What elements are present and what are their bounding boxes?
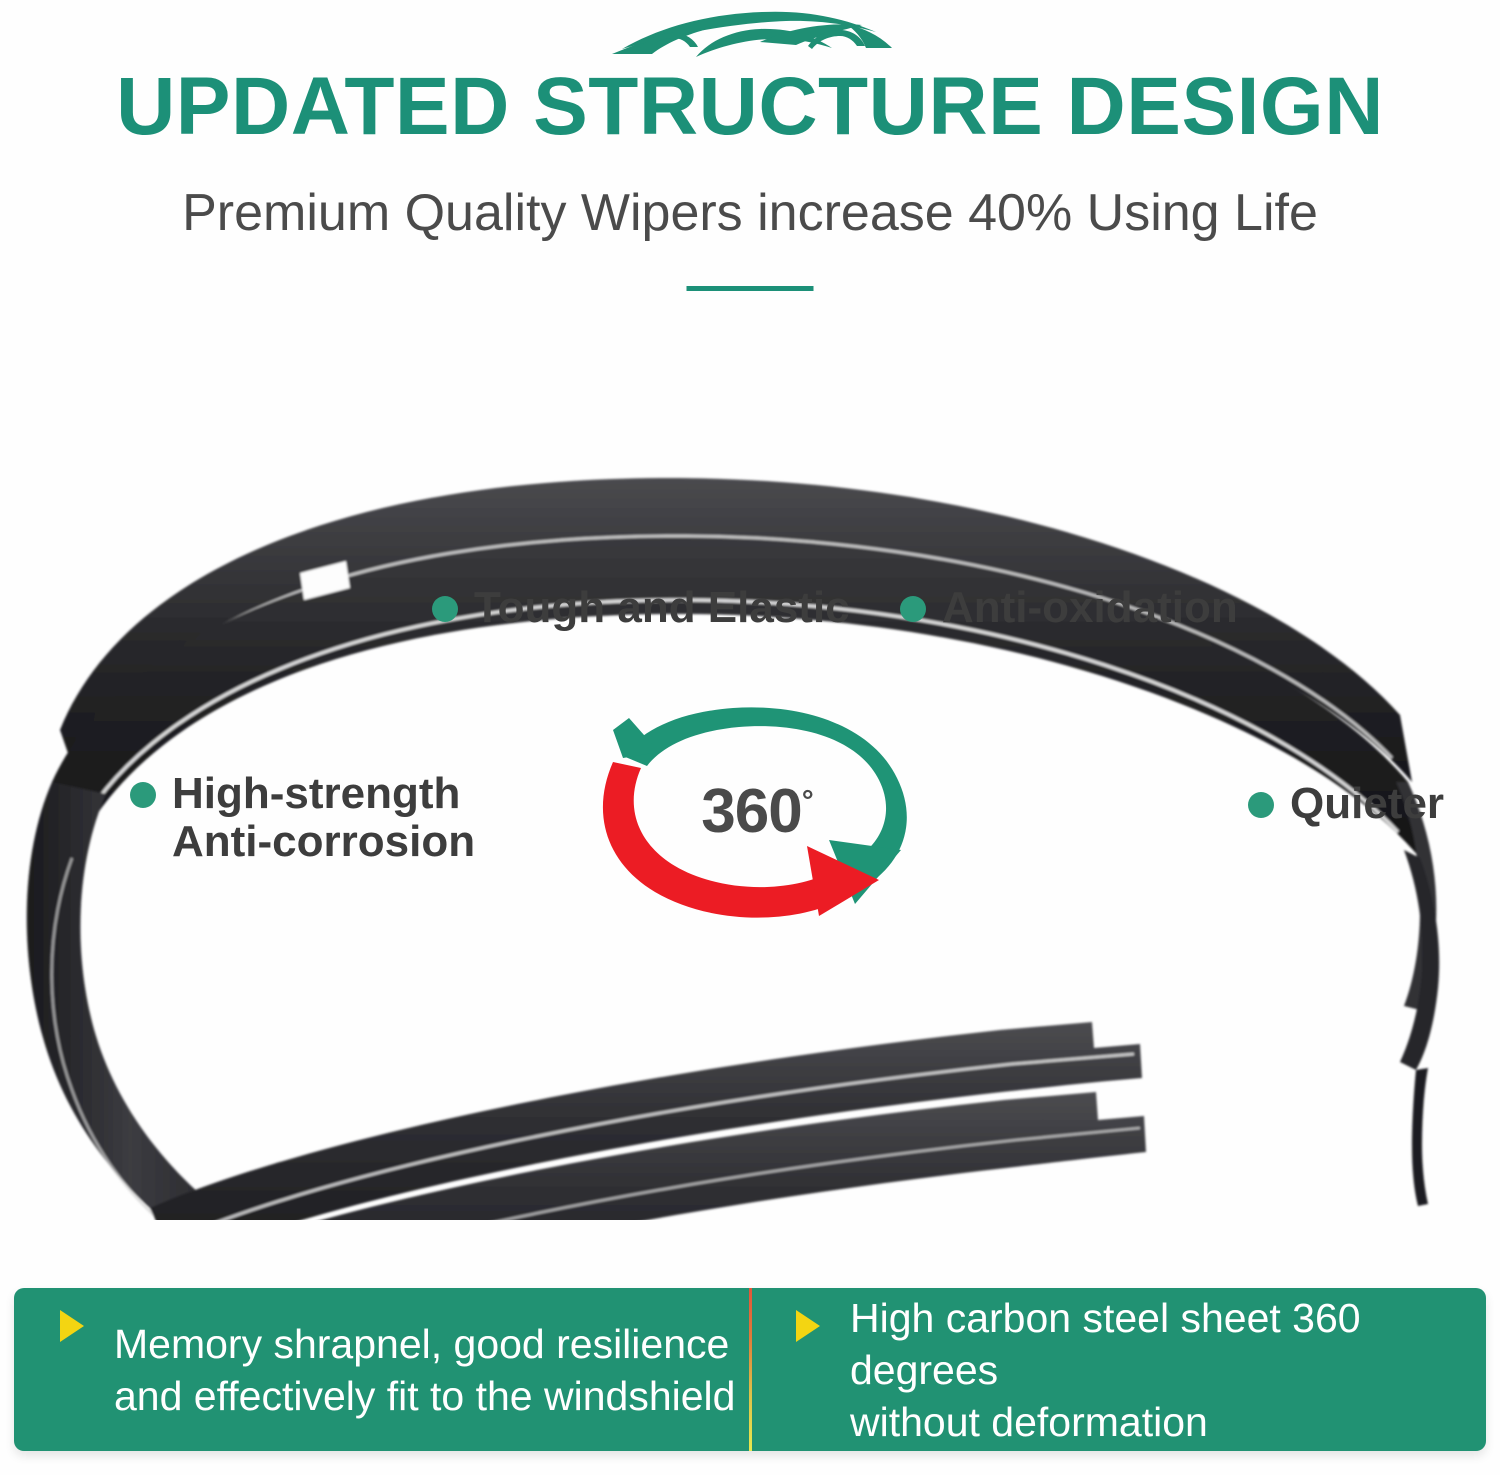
bullet-dot-icon [130,782,156,808]
feature-label: Quieter [1290,780,1444,828]
title-divider [687,286,814,291]
feature-label: High-strength Anti-corrosion [172,770,475,866]
car-silhouette-icon [600,2,900,64]
bullet-dot-icon [1248,792,1274,818]
banner-item-right: High carbon steel sheet 360 degrees with… [750,1288,1486,1451]
banner-text: Memory shrapnel, good resilience and eff… [114,1318,735,1422]
feature-label: Tough and Elastic [474,584,850,632]
bottom-feature-banner: Memory shrapnel, good resilience and eff… [14,1288,1486,1451]
banner-item-left: Memory shrapnel, good resilience and eff… [14,1288,750,1451]
bullet-dot-icon [900,596,926,622]
product-feature-page: UPDATED STRUCTURE DESIGN Premium Quality… [0,0,1500,1475]
rotation-360-badge: 360° [583,700,943,930]
feature-label: Anti-oxidation [942,584,1238,632]
brand-logo [0,2,1500,66]
triangle-right-icon [796,1310,844,1342]
bullet-dot-icon [432,596,458,622]
feature-tough-and-elastic: Tough and Elastic [432,584,850,632]
red-arrow-icon [603,762,879,918]
banner-text: High carbon steel sheet 360 degrees with… [850,1292,1486,1448]
page-title: UPDATED STRUCTURE DESIGN [0,66,1500,148]
page-subtitle: Premium Quality Wipers increase 40% Usin… [0,183,1500,243]
feature-high-strength-anti-corrosion: High-strength Anti-corrosion [130,770,475,866]
triangle-right-icon [60,1310,108,1342]
feature-quieter: Quieter [1248,780,1444,828]
banner-divider [749,1288,752,1451]
feature-anti-oxidation: Anti-oxidation [900,584,1238,632]
